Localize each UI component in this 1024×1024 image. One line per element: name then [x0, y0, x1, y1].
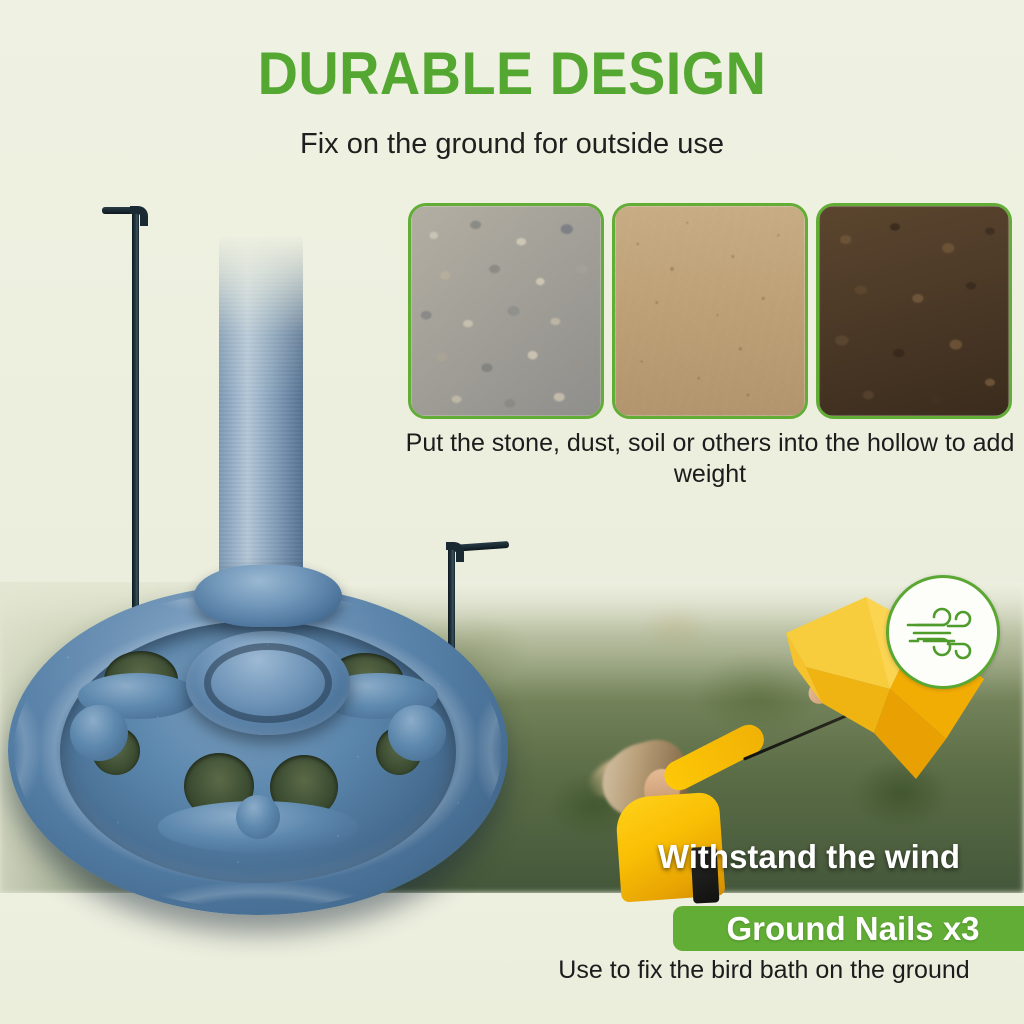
- soil-texture: [819, 206, 1009, 416]
- withstand-wind-caption: Withstand the wind: [594, 838, 1024, 876]
- sand-texture: [615, 206, 805, 416]
- page-subtitle: Fix on the ground for outside use: [0, 127, 1024, 161]
- stone-texture: [411, 206, 601, 416]
- nail-elbow: [130, 206, 148, 226]
- ground-nails-badge-label: Ground Nails x3: [726, 906, 979, 951]
- pole-texture: [219, 236, 303, 591]
- ground-nails-caption: Use to fix the bird bath on the ground: [504, 955, 1024, 985]
- ground-nails-badge: Ground Nails x3: [673, 906, 1024, 951]
- swatch-sand: [612, 203, 808, 419]
- nail-elbow: [446, 542, 464, 562]
- material-caption: Put the stone, dust, soil or others into…: [400, 428, 1020, 490]
- swatch-soil: [816, 203, 1012, 419]
- bird-bath-base: [8, 565, 508, 945]
- bird-bath-pole: [219, 236, 303, 591]
- base-speckle-texture: [8, 585, 508, 915]
- wind-icon: [904, 603, 982, 661]
- swatch-stone: [408, 203, 604, 419]
- wind-badge: [886, 575, 1000, 689]
- material-swatch-group: [408, 203, 1012, 419]
- infographic-canvas: DURABLE DESIGN Fix on the ground for out…: [0, 0, 1024, 1024]
- page-title: DURABLE DESIGN: [36, 44, 988, 104]
